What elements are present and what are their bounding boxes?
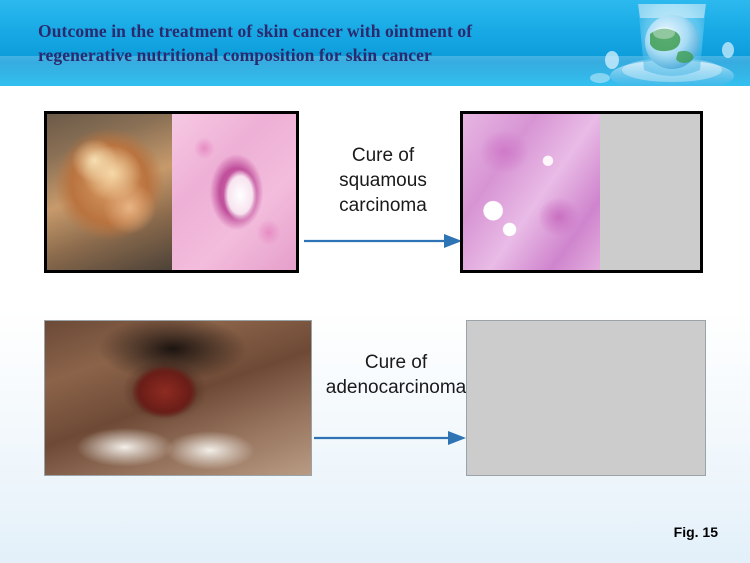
adenocarcinoma-after-photo — [466, 320, 706, 476]
label-squamous-line3: carcinoma — [308, 193, 458, 218]
arrow-right-icon — [314, 430, 466, 446]
squamous-before-histology-image — [172, 114, 297, 270]
slide-content: Cure of squamous carcinoma Cure of — [8, 88, 742, 556]
label-adeno-line2: adenocarcinoma — [316, 375, 476, 400]
arrow-right-icon — [304, 233, 462, 249]
slide-header-banner: Outcome in the treatment of skin cancer … — [0, 0, 750, 86]
page-title-line1: Outcome in the treatment of skin cancer … — [38, 21, 472, 41]
label-cure-of-squamous-carcinoma: Cure of squamous carcinoma — [308, 143, 458, 218]
squamous-carcinoma-before-photo — [44, 111, 299, 273]
label-squamous-line2: squamous — [308, 168, 458, 193]
squamous-before-clinical-image — [47, 114, 172, 270]
squamous-after-clinical-image — [600, 114, 700, 270]
page-title-line2: regenerative nutritional composition for… — [38, 43, 598, 67]
label-adeno-line1: Cure of — [316, 350, 476, 375]
globe-water-icon — [580, 0, 750, 86]
figure-caption: Fig. 15 — [674, 524, 718, 540]
squamous-carcinoma-after-photo — [460, 111, 703, 273]
squamous-after-histology-image — [463, 114, 600, 270]
adenocarcinoma-before-photo — [44, 320, 312, 476]
label-cure-of-adenocarcinoma: Cure of adenocarcinoma — [316, 350, 476, 400]
slide: Outcome in the treatment of skin cancer … — [0, 0, 750, 563]
page-title: Outcome in the treatment of skin cancer … — [38, 19, 598, 67]
label-squamous-line1: Cure of — [308, 143, 458, 168]
